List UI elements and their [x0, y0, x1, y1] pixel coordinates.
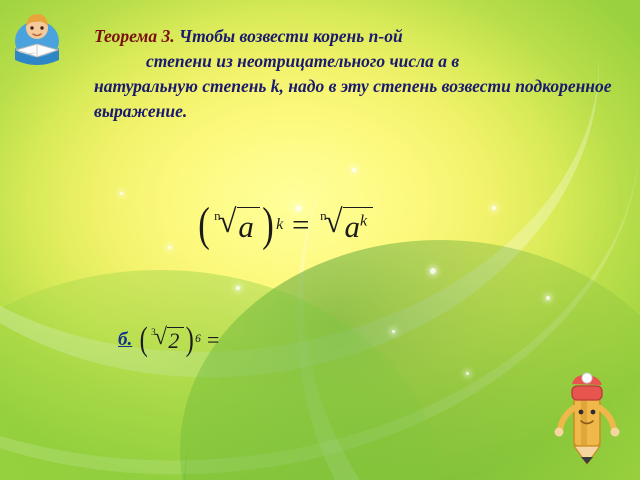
radicand: a — [237, 207, 261, 243]
sparkle-dot — [492, 206, 496, 210]
radicand-exponent: k — [360, 213, 367, 230]
theorem-line-1: Чтобы возвести корень n-ой — [179, 26, 403, 46]
sparkle-dot — [466, 372, 469, 375]
sparkle-dot — [352, 168, 356, 172]
open-paren: ( — [140, 326, 148, 353]
example-label: б. — [118, 329, 132, 351]
sparkle-dot — [392, 330, 395, 333]
pencil-character-icon — [548, 372, 624, 472]
boy-with-book-icon — [6, 8, 68, 70]
equals-sign: = — [207, 327, 219, 353]
slide-canvas: Теорема 3. Чтобы возвести корень n-ой ст… — [0, 0, 640, 480]
radical-sign: √ — [219, 206, 237, 239]
open-paren: ( — [198, 206, 210, 244]
radicand: 2 — [167, 327, 184, 353]
radical-index: n — [320, 209, 327, 222]
exponent-k: k — [276, 217, 283, 233]
radicand-base: a — [345, 209, 361, 244]
sparkle-dot — [120, 192, 123, 195]
sparkle-dot — [430, 268, 436, 274]
radical-left: n √ a — [212, 207, 260, 243]
sparkle-dot — [236, 286, 240, 290]
radicand: ak — [343, 207, 374, 243]
radical-index: n — [214, 209, 221, 222]
example-formula: б. ( 3 √ 2 ) 6 = — [118, 326, 226, 353]
close-paren: ) — [185, 326, 193, 353]
sparkle-dot — [168, 246, 171, 249]
radical-sign: √ — [325, 206, 343, 239]
radical-right: n √ ak — [318, 207, 373, 243]
exponent-6: 6 — [195, 334, 201, 345]
radical-sign: √ — [154, 326, 167, 349]
radical-example: 3 √ 2 — [150, 327, 184, 353]
sparkle-dot — [546, 296, 550, 300]
theorem-text-block: Теорема 3. Чтобы возвести корень n-ой ст… — [94, 24, 612, 123]
theorem-line-3: натуральную степень k, надо в эту степен… — [94, 76, 437, 96]
main-formula: ( n √ a ) k = n √ ak — [196, 206, 373, 244]
theorem-line-2: степени из неотрицательного числа a в — [94, 49, 612, 74]
close-paren: ) — [262, 206, 274, 244]
radical-index: 3 — [151, 328, 156, 337]
theorem-label: Теорема 3. — [94, 26, 175, 46]
equals-sign: = — [292, 207, 309, 243]
